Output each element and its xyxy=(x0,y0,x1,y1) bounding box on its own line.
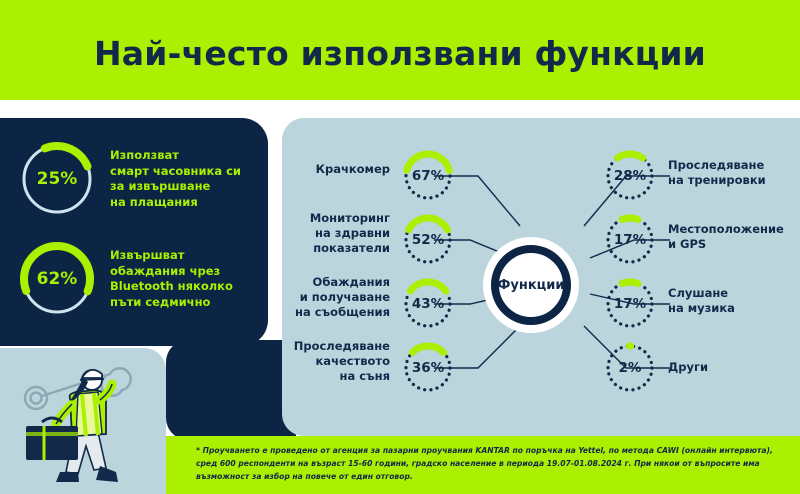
node-sleep-tracking-label: Проследяване качеството на съня xyxy=(250,339,390,384)
node-sleep-tracking[interactable]: 36% xyxy=(400,340,456,396)
node-workout-tracking-value: 28% xyxy=(602,148,658,204)
node-music-value: 17% xyxy=(602,276,658,332)
donut-62-value: 62% xyxy=(18,240,96,318)
node-calls-messages-label: Обаждания и получаване на съобщения xyxy=(250,275,390,320)
node-workout-tracking-label: Проследяване на тренировки xyxy=(668,158,798,188)
node-location-gps[interactable]: 17% xyxy=(602,212,658,268)
node-other[interactable]: 2% xyxy=(602,340,658,396)
node-health-monitoring[interactable]: 52% xyxy=(400,212,456,268)
node-sleep-tracking-value: 36% xyxy=(400,340,456,396)
node-calls-messages-value: 43% xyxy=(400,276,456,332)
node-music[interactable]: 17% xyxy=(602,276,658,332)
node-calls-messages[interactable]: 43% xyxy=(400,276,456,332)
node-pedometer-label: Крачкомер xyxy=(250,162,390,177)
node-pedometer[interactable]: 67% xyxy=(400,148,456,204)
node-location-gps-label: Местоположение и GPS xyxy=(668,222,798,252)
header-band: Най-често използвани функции xyxy=(0,0,800,100)
node-music-label: Слушане на музика xyxy=(668,286,798,316)
hub-label: Функции xyxy=(497,278,564,293)
node-health-monitoring-value: 52% xyxy=(400,212,456,268)
hub-ring: Функции xyxy=(491,245,571,325)
page-title: Най-често използвани функции xyxy=(0,34,800,73)
donut-25-value: 25% xyxy=(18,140,96,218)
node-pedometer-value: 67% xyxy=(400,148,456,204)
worker-illustration-icon xyxy=(6,352,166,486)
donut-25: 25% xyxy=(18,140,96,218)
stat-label-payments: Използват смарт часовника си за извършва… xyxy=(110,148,241,210)
node-location-gps-value: 17% xyxy=(602,212,658,268)
node-other-label: Други xyxy=(668,360,798,375)
node-workout-tracking[interactable]: 28% xyxy=(602,148,658,204)
node-health-monitoring-label: Мониторинг на здравни показатели xyxy=(250,211,390,256)
stat-row-payments: 25% Използват смарт часовника си за извъ… xyxy=(18,140,241,218)
node-other-value: 2% xyxy=(602,340,658,396)
diagram-hub: Функции xyxy=(483,237,579,333)
donut-62: 62% xyxy=(18,240,96,318)
stat-label-bluetooth: Извършват обаждания чрез Bluetooth някол… xyxy=(110,248,233,310)
stat-row-bluetooth: 62% Извършват обаждания чрез Bluetooth н… xyxy=(18,240,233,318)
footnote-band: * Проучването е проведено от агенция за … xyxy=(166,436,800,494)
footnote-text: * Проучването е проведено от агенция за … xyxy=(196,445,786,483)
